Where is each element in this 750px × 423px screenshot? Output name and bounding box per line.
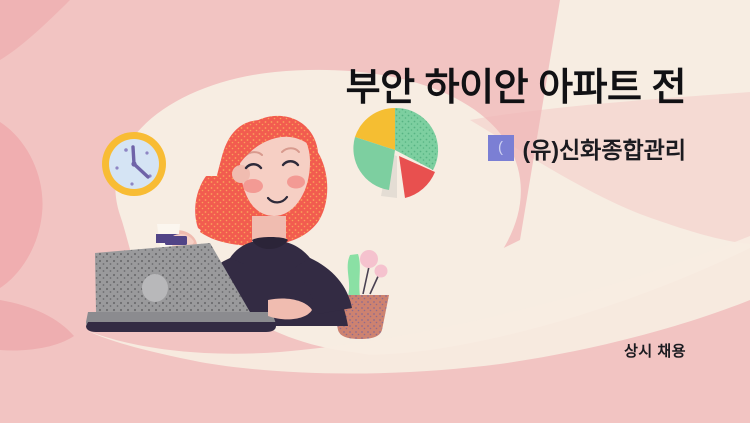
blush-left [243,179,263,193]
company-name: (유)신화종합관리 [523,131,686,165]
status-badge: 상시 채용 [624,340,686,361]
blush-right [287,176,305,189]
laptop-clip [165,236,187,245]
wall-clock [102,132,166,196]
laptop-edge [86,322,276,332]
page-title: 부안 하이안 아파트 전 [346,66,686,111]
company-row: ( (유)신화종합관리 [346,131,686,165]
title-block: 부안 하이안 아파트 전 ( (유)신화종합관리 [346,66,686,165]
job-posting-banner: 부안 하이안 아파트 전 ( (유)신화종합관리 상시 채용 [0,0,750,423]
laptop-logo [142,274,168,302]
company-logo-badge: ( [488,135,514,161]
